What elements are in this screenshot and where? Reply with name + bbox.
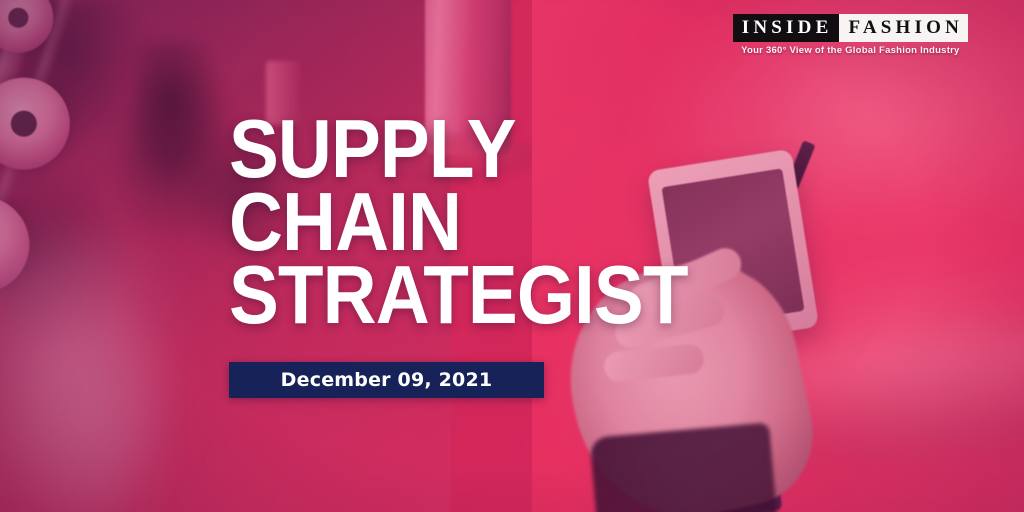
logo-word-fashion: FASHION [839, 14, 968, 42]
brand-logo[interactable]: INSIDE FASHION Your 360° View of the Glo… [733, 14, 968, 56]
page-title: SUPPLY CHAIN STRATEGIST [229, 112, 739, 331]
logo-wordmark: INSIDE FASHION [733, 14, 968, 42]
headline-line-3: STRATEGIST [229, 258, 688, 331]
date-badge: December 09, 2021 [229, 362, 544, 398]
promo-banner: INSIDE FASHION Your 360° View of the Glo… [0, 0, 1024, 512]
logo-word-inside: INSIDE [733, 14, 840, 42]
date-text: December 09, 2021 [281, 369, 493, 391]
logo-tagline: Your 360° View of the Global Fashion Ind… [741, 45, 959, 56]
